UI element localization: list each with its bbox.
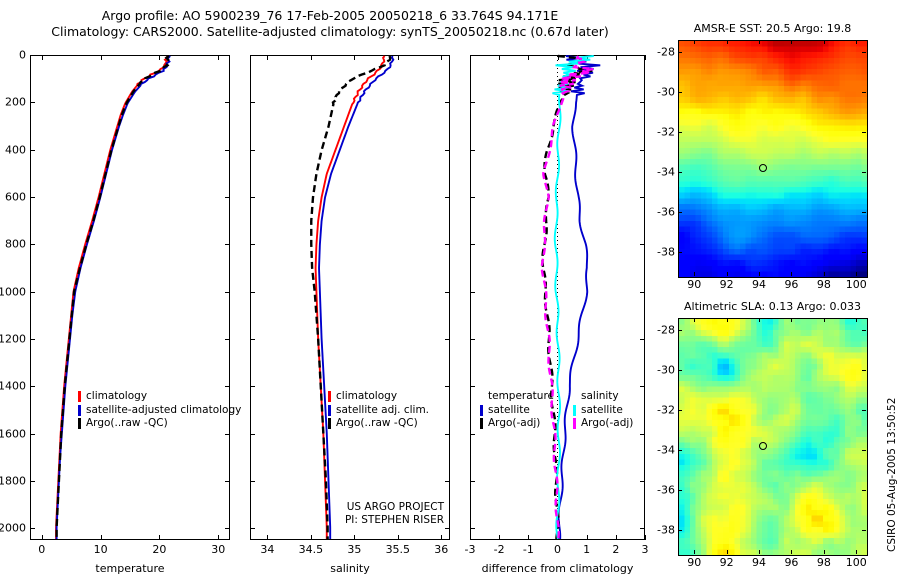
axis-tick-label: 200 bbox=[0, 96, 26, 109]
map-axis-tick-label: 90 bbox=[687, 278, 701, 291]
map-axis-tick bbox=[759, 550, 760, 554]
axis-tick-label: 2 bbox=[612, 543, 619, 556]
map-axis-tick bbox=[678, 172, 682, 173]
map-axis-tick bbox=[791, 40, 792, 44]
sst-map bbox=[678, 40, 868, 278]
map-axis-tick bbox=[678, 530, 682, 531]
axis-tick-label: 1000 bbox=[0, 285, 26, 298]
map-axis-tick bbox=[727, 40, 728, 44]
temperature-curves bbox=[31, 56, 229, 539]
sla-map-title: Altimetric SLA: 0.13 Argo: 0.033 bbox=[665, 300, 880, 313]
axis-tick-label: 10 bbox=[94, 543, 108, 556]
sst-map-title: AMSR-E SST: 20.5 Argo: 19.8 bbox=[665, 22, 880, 35]
map-axis-tick bbox=[678, 490, 682, 491]
map-axis-tick bbox=[694, 272, 695, 276]
sla-map bbox=[678, 318, 868, 556]
map-axis-tick-label: 96 bbox=[784, 278, 798, 291]
axis-tick-label: 20 bbox=[152, 543, 166, 556]
axis-tick bbox=[645, 535, 646, 540]
axis-tick-label: 1 bbox=[583, 543, 590, 556]
temperature-xaxis-label: temperature bbox=[30, 562, 230, 575]
map-axis-tick bbox=[759, 318, 760, 322]
axis-tick-label: 1600 bbox=[0, 427, 26, 440]
map-axis-tick bbox=[824, 272, 825, 276]
axis-tick-label: -2 bbox=[494, 543, 505, 556]
map-axis-tick bbox=[856, 40, 857, 44]
map-axis-tick bbox=[862, 450, 866, 451]
map-axis-tick bbox=[856, 318, 857, 322]
figure-title: Argo profile: AO 5900239_76 17-Feb-2005 … bbox=[0, 8, 660, 40]
salinity-curves bbox=[251, 56, 449, 539]
axis-tick-label: 1200 bbox=[0, 332, 26, 345]
map-axis-tick-label: 92 bbox=[720, 278, 734, 291]
map-axis-tick bbox=[678, 92, 682, 93]
axis-tick-label: 1800 bbox=[0, 474, 26, 487]
map-axis-tick-label: -30 bbox=[651, 86, 675, 99]
map-axis-tick bbox=[678, 212, 682, 213]
map-axis-tick bbox=[694, 40, 695, 44]
series-temperature-0 bbox=[56, 56, 167, 539]
map-axis-tick-label: 100 bbox=[846, 556, 867, 569]
axis-tick-label: 34 bbox=[260, 543, 274, 556]
axis-tick-label: 3 bbox=[642, 543, 649, 556]
series-salinity-4 bbox=[319, 56, 393, 539]
map-axis-tick-label: -38 bbox=[651, 246, 675, 259]
map-axis-tick-label: 98 bbox=[817, 278, 831, 291]
map-axis-tick bbox=[862, 132, 866, 133]
axis-tick-label: 0 bbox=[554, 543, 561, 556]
axis-tick-label: 35.5 bbox=[386, 543, 411, 556]
figure-title-line2: Climatology: CARS2000. Satellite-adjuste… bbox=[0, 24, 660, 40]
map-axis-tick bbox=[678, 132, 682, 133]
map-axis-tick bbox=[791, 550, 792, 554]
figure-title-line1: Argo profile: AO 5900239_76 17-Feb-2005 … bbox=[0, 8, 660, 24]
difference-curves bbox=[471, 56, 644, 539]
map-axis-tick bbox=[678, 252, 682, 253]
map-axis-tick bbox=[791, 318, 792, 322]
map-axis-tick bbox=[862, 410, 866, 411]
axis-tick-label: 30 bbox=[211, 543, 225, 556]
map-axis-tick bbox=[862, 52, 866, 53]
map-axis-tick bbox=[824, 550, 825, 554]
map-axis-tick bbox=[862, 490, 866, 491]
map-axis-tick-label: 92 bbox=[720, 556, 734, 569]
map-axis-tick bbox=[856, 550, 857, 554]
timestamp-label: CSIRO 05-Aug-2005 13:50:52 bbox=[886, 398, 898, 552]
map-axis-tick bbox=[694, 550, 695, 554]
axis-tick bbox=[645, 55, 646, 60]
map-axis-tick-label: -32 bbox=[651, 126, 675, 139]
axis-tick-label: 800 bbox=[0, 238, 26, 251]
axis-tick-label: 1400 bbox=[0, 380, 26, 393]
map-axis-tick bbox=[727, 550, 728, 554]
map-axis-tick bbox=[694, 318, 695, 322]
map-axis-tick bbox=[678, 52, 682, 53]
map-axis-tick bbox=[862, 530, 866, 531]
series-salinity-5 bbox=[311, 56, 390, 539]
series-difference-6 bbox=[558, 56, 600, 539]
map-axis-tick-label: -28 bbox=[651, 324, 675, 337]
sst-raster bbox=[679, 41, 867, 277]
difference-xaxis-label: difference from climatology bbox=[470, 562, 645, 575]
map-axis-tick-label: -32 bbox=[651, 404, 675, 417]
map-axis-tick-label: -34 bbox=[651, 444, 675, 457]
map-axis-tick bbox=[862, 212, 866, 213]
map-axis-tick bbox=[759, 40, 760, 44]
axis-tick-label: -1 bbox=[523, 543, 534, 556]
map-axis-tick-label: 90 bbox=[687, 556, 701, 569]
map-axis-tick bbox=[856, 272, 857, 276]
map-axis-tick-label: -34 bbox=[651, 166, 675, 179]
map-axis-tick bbox=[824, 318, 825, 322]
map-axis-tick-label: 94 bbox=[752, 278, 766, 291]
map-axis-tick-label: -28 bbox=[651, 46, 675, 59]
sla-raster bbox=[679, 319, 867, 555]
axis-tick-label: 34.5 bbox=[299, 543, 324, 556]
axis-tick-label: 600 bbox=[0, 190, 26, 203]
map-axis-tick-label: 96 bbox=[784, 556, 798, 569]
map-axis-tick bbox=[862, 370, 866, 371]
map-axis-tick bbox=[791, 272, 792, 276]
map-axis-tick-label: 98 bbox=[817, 556, 831, 569]
map-axis-tick bbox=[727, 272, 728, 276]
map-axis-tick-label: 94 bbox=[752, 556, 766, 569]
axis-tick-label: 2000 bbox=[0, 522, 26, 535]
map-axis-tick-label: -36 bbox=[651, 206, 675, 219]
axis-tick-label: 36 bbox=[434, 543, 448, 556]
map-axis-tick-label: -36 bbox=[651, 484, 675, 497]
map-axis-tick-label: 100 bbox=[846, 278, 867, 291]
map-axis-tick-label: -30 bbox=[651, 364, 675, 377]
map-axis-tick-label: -38 bbox=[651, 524, 675, 537]
axis-tick-label: -3 bbox=[465, 543, 476, 556]
map-axis-tick bbox=[862, 252, 866, 253]
map-axis-tick bbox=[678, 330, 682, 331]
map-axis-tick bbox=[678, 450, 682, 451]
map-axis-tick bbox=[862, 330, 866, 331]
map-axis-tick bbox=[824, 40, 825, 44]
axis-tick-label: 0 bbox=[38, 543, 45, 556]
map-axis-tick bbox=[862, 172, 866, 173]
series-difference-7 bbox=[542, 56, 592, 539]
map-axis-tick bbox=[678, 370, 682, 371]
map-axis-tick bbox=[678, 410, 682, 411]
axis-tick-label: 0 bbox=[0, 49, 26, 62]
salinity-xaxis-label: salinity bbox=[250, 562, 450, 575]
axis-tick-label: 400 bbox=[0, 143, 26, 156]
axis-tick-label: 35 bbox=[347, 543, 361, 556]
map-axis-tick bbox=[862, 92, 866, 93]
map-axis-tick bbox=[759, 272, 760, 276]
series-temperature-1 bbox=[57, 56, 171, 539]
map-axis-tick bbox=[727, 318, 728, 322]
series-salinity-3 bbox=[316, 56, 385, 539]
